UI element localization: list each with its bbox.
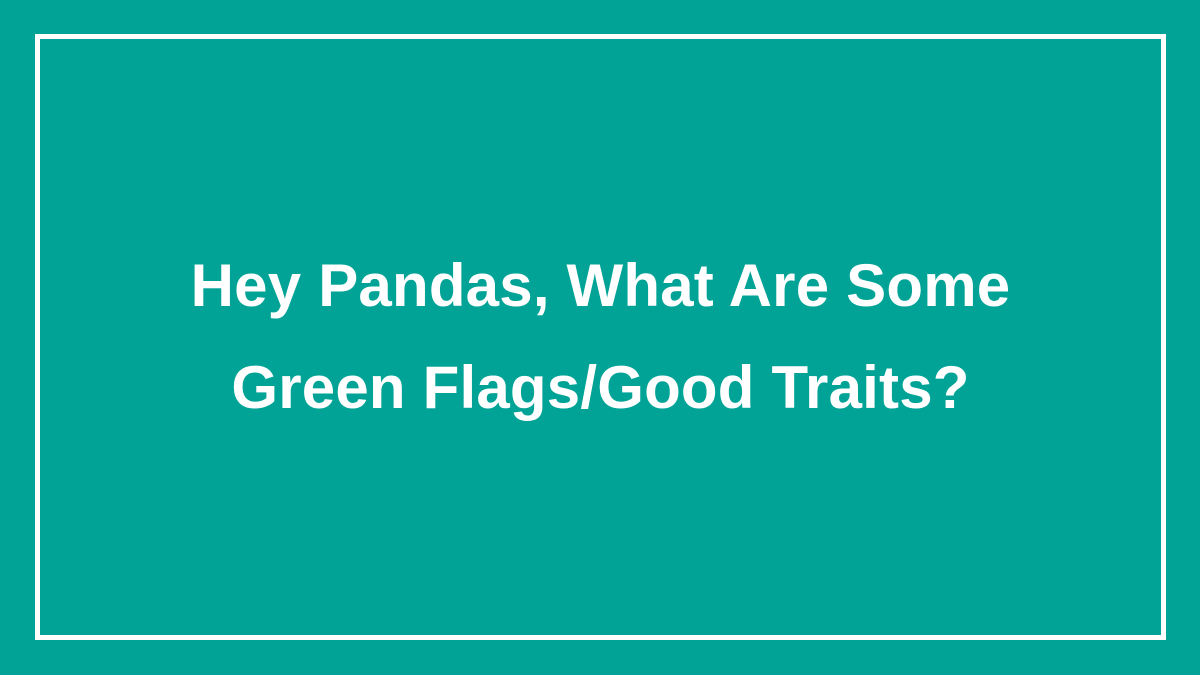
headline-line-2: Green Flags/Good Traits? — [191, 337, 1011, 439]
banner-content: Hey Pandas, What Are Some Green Flags/Go… — [35, 34, 1166, 640]
banner-headline: Hey Pandas, What Are Some Green Flags/Go… — [191, 235, 1011, 439]
headline-line-1: Hey Pandas, What Are Some — [191, 235, 1011, 337]
banner-card: Hey Pandas, What Are Some Green Flags/Go… — [0, 0, 1200, 675]
